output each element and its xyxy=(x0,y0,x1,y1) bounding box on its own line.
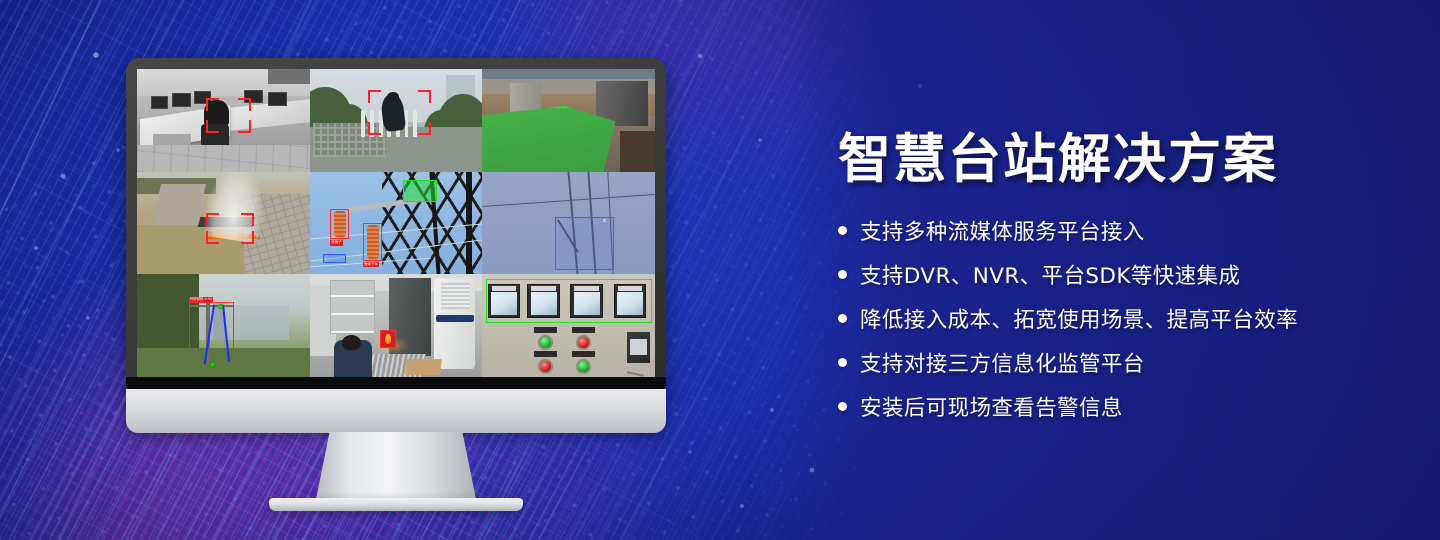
scene-utility-pole: 杆塔倾斜 0.92 xyxy=(137,274,310,377)
copy-block: 智慧台站解决方案 支持多种流媒体服务平台接入 支持DVR、NVR、平台SDK等快… xyxy=(838,130,1398,435)
scene-control-panel xyxy=(482,274,655,377)
scene-tower: 绝缘子 绝缘子串 xyxy=(310,172,483,275)
feature-text: 支持对接三方信息化监管平台 xyxy=(860,347,1145,378)
video-wall-screen: 绝缘子 绝缘子串 xyxy=(137,69,655,377)
scene-overhead-wires xyxy=(482,172,655,275)
monitor-stand-neck xyxy=(315,432,477,504)
video-cell-yard-zone[interactable] xyxy=(482,69,655,172)
video-cell-fence-climbing[interactable] xyxy=(310,69,483,172)
indicator-lamp-green-1 xyxy=(538,335,554,350)
bullet-dot-icon xyxy=(838,314,847,323)
detection-box-insulator-b xyxy=(363,223,382,261)
feature-item-3: 降低接入成本、拓宽使用场景、提高平台效率 xyxy=(838,303,1398,334)
solution-banner: 绝缘子 绝缘子串 xyxy=(0,0,1440,540)
detection-bracket-person xyxy=(206,98,251,133)
detection-bracket-intruder xyxy=(368,90,430,135)
feature-item-5: 安装后可现场查看告警信息 xyxy=(838,391,1398,422)
video-cell-control-panel[interactable] xyxy=(482,274,655,377)
video-cell-utility-pole[interactable]: 杆塔倾斜 0.92 xyxy=(137,274,310,377)
bullet-dot-icon xyxy=(838,226,847,235)
indicator-lamp-red-1 xyxy=(576,335,592,350)
indicator-lamp-green-2 xyxy=(576,359,592,374)
detection-box-flame xyxy=(380,330,396,348)
detection-bracket-fire xyxy=(206,213,254,244)
bullet-dot-icon xyxy=(838,358,847,367)
desktop-monitor: 绝缘子 绝缘子串 xyxy=(126,58,666,490)
feature-text: 支持DVR、NVR、平台SDK等快速集成 xyxy=(860,259,1240,290)
video-cell-transmission-tower[interactable]: 绝缘子 绝缘子串 xyxy=(310,172,483,275)
video-cell-grass-fire[interactable] xyxy=(137,172,310,275)
scene-yard xyxy=(482,69,655,172)
detection-zone-green xyxy=(403,180,438,203)
detection-box-wire-region xyxy=(555,217,614,270)
detection-box-fitting xyxy=(323,254,345,263)
video-cell-equipment-room[interactable] xyxy=(310,274,483,377)
feature-text: 降低接入成本、拓宽使用场景、提高平台效率 xyxy=(860,303,1298,334)
video-cell-overhead-wires[interactable] xyxy=(482,172,655,275)
feature-item-4: 支持对接三方信息化监管平台 xyxy=(838,347,1398,378)
video-cell-control-room[interactable] xyxy=(137,69,310,172)
bullet-dot-icon xyxy=(838,270,847,279)
scene-equipment-room xyxy=(310,274,483,377)
monitor-under-screen-strip xyxy=(126,377,666,389)
monitor-stand-base xyxy=(269,498,523,511)
detection-box-insulator-a xyxy=(330,209,349,240)
feature-text: 支持多种流媒体服务平台接入 xyxy=(860,215,1145,246)
feature-list: 支持多种流媒体服务平台接入 支持DVR、NVR、平台SDK等快速集成 降低接入成… xyxy=(838,215,1398,422)
page-title: 智慧台站解决方案 xyxy=(838,130,1398,189)
indicator-lamp-red-2 xyxy=(538,359,554,374)
feature-item-1: 支持多种流媒体服务平台接入 xyxy=(838,215,1398,246)
bullet-dot-icon xyxy=(838,402,847,411)
monitor-chin xyxy=(126,389,666,433)
feature-text: 安装后可现场查看告警信息 xyxy=(860,391,1123,422)
detection-zone-meters xyxy=(486,279,652,322)
feature-item-2: 支持DVR、NVR、平台SDK等快速集成 xyxy=(838,259,1398,290)
